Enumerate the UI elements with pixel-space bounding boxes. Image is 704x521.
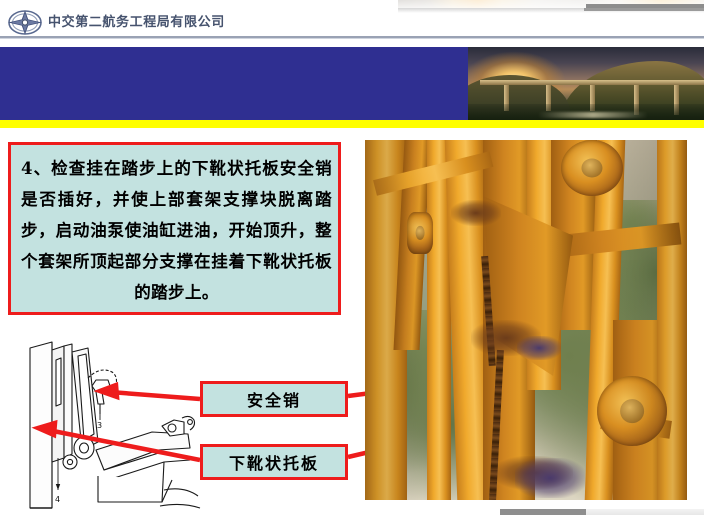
horizontal-scrollbar[interactable] xyxy=(500,509,704,515)
bridge-sunset-photo xyxy=(468,47,704,120)
banner-photo-town-lights xyxy=(538,112,648,118)
instruction-text: 4、检查挂在踏步上的下靴状托板安全销是否插好，并使上部套架支撑块脱离踏步，启动油… xyxy=(21,153,332,308)
scrollbar-thumb[interactable] xyxy=(500,509,586,515)
accent-stripe xyxy=(0,120,704,128)
diagram-part-label-3: 3 xyxy=(97,421,102,430)
callout-support-plate-label: 下靴状托板 xyxy=(229,450,319,474)
callout-support-plate: 下靴状托板 xyxy=(200,444,348,480)
company-name: 中交第二航务工程局有限公司 xyxy=(48,13,225,31)
callout-safety-pin-label: 安全销 xyxy=(247,387,301,411)
compass-star-logo-icon xyxy=(7,10,43,35)
technical-line-drawing: 3 4 xyxy=(12,330,227,512)
slide-view: 中交第二航务工程局有限公司 4、检查挂在踏步上的下靴状托板安全销是否插好，并使上… xyxy=(0,0,704,521)
photo-vignette xyxy=(365,140,687,500)
slide-header: 中交第二航务工程局有限公司 xyxy=(0,8,704,36)
equipment-photo xyxy=(365,140,687,500)
header-divider-light xyxy=(0,38,704,39)
callout-safety-pin: 安全销 xyxy=(200,381,348,417)
instruction-text-box: 4、检查挂在踏步上的下靴状托板安全销是否插好，并使上部套架支撑块脱离踏步，启动油… xyxy=(8,142,341,315)
diagram-part-label-4: 4 xyxy=(55,495,60,504)
